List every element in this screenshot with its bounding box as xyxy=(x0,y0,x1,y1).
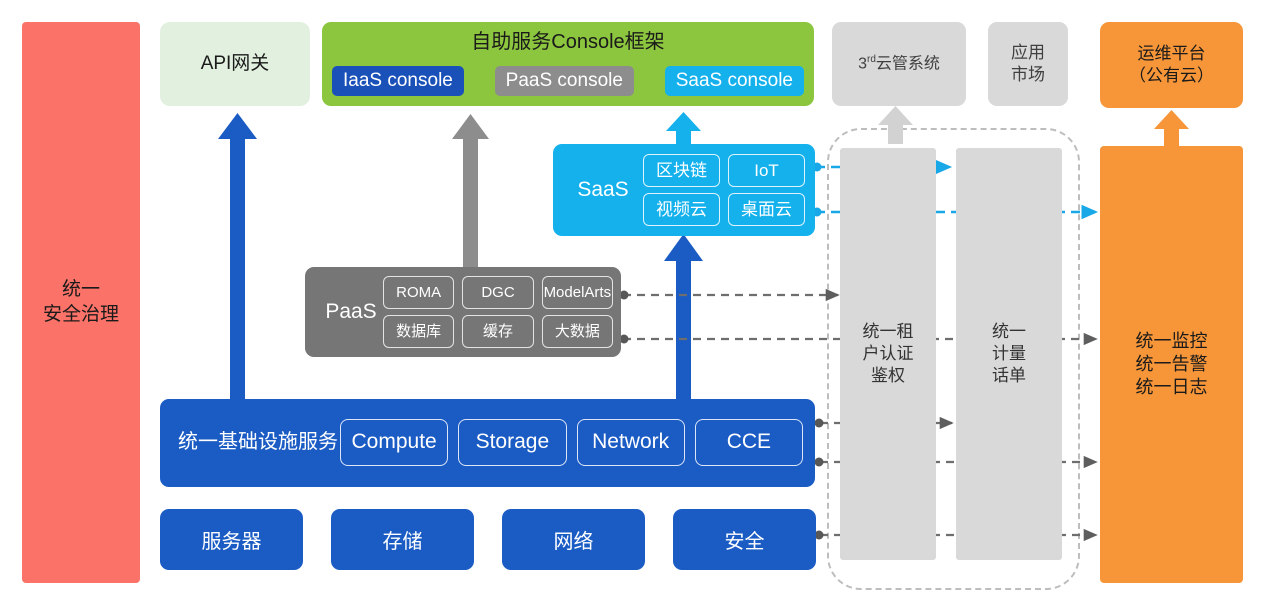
infrastructure-services-panel[interactable]: 统一基础设施服务 Compute Storage Network CCE xyxy=(160,399,815,487)
metering-billing-column[interactable]: 统一 计量 话单 xyxy=(956,148,1062,560)
paas-service-grid: ROMA DGC ModelArts 数据库 缓存 大数据 xyxy=(383,276,613,348)
console-framework-panel[interactable]: 自助服务Console框架 IaaS console PaaS console … xyxy=(322,22,814,106)
resource-box-storage[interactable]: 存储 xyxy=(331,509,474,570)
architecture-diagram: 统一 安全治理 API网关 自助服务Console框架 IaaS console… xyxy=(0,0,1265,605)
third-party-cloud-label: 3rd云管系统 xyxy=(858,54,940,75)
resource-box-security[interactable]: 安全 xyxy=(673,509,816,570)
infrastructure-item[interactable]: Storage xyxy=(458,419,566,466)
infrastructure-item-group: Compute Storage Network CCE xyxy=(340,420,803,465)
infrastructure-item[interactable]: Network xyxy=(577,419,685,466)
paas-service-item[interactable]: 大数据 xyxy=(542,315,613,348)
saas-service-item[interactable]: 区块链 xyxy=(643,154,720,187)
dot-infra-out-1 xyxy=(815,419,824,428)
saas-service-item[interactable]: IoT xyxy=(728,154,805,187)
saas-service-item[interactable]: 视频云 xyxy=(643,193,720,226)
infrastructure-services-label: 统一基础设施服务 xyxy=(178,399,338,487)
third-party-cloud-rest: 云管系统 xyxy=(876,55,940,72)
third-party-cloud-box[interactable]: 3rd云管系统 xyxy=(832,22,966,106)
console-framework-title: 自助服务Console框架 xyxy=(322,30,814,56)
resource-box-server[interactable]: 服务器 xyxy=(160,509,303,570)
arrow-into-ops-platform xyxy=(1154,110,1189,148)
third-party-cloud-superscript: rd xyxy=(867,54,876,65)
arrow-paas-to-console xyxy=(452,114,489,267)
third-party-cloud-prefix: 3 xyxy=(858,55,867,72)
console-pill-group: IaaS console PaaS console SaaS console xyxy=(332,66,804,96)
tenant-auth-column[interactable]: 统一租 户认证 鉴权 xyxy=(840,148,936,560)
console-paas[interactable]: PaaS console xyxy=(495,66,634,96)
saas-label: SaaS xyxy=(567,144,639,236)
console-iaas[interactable]: IaaS console xyxy=(332,66,464,96)
paas-service-item[interactable]: 缓存 xyxy=(462,315,533,348)
infrastructure-item[interactable]: Compute xyxy=(340,419,448,466)
ops-platform-box[interactable]: 运维平台 （公有云） xyxy=(1100,22,1243,108)
paas-label: PaaS xyxy=(315,267,387,357)
app-market-box[interactable]: 应用 市场 xyxy=(988,22,1068,106)
paas-service-item[interactable]: DGC xyxy=(462,276,533,309)
paas-service-item[interactable]: 数据库 xyxy=(383,315,454,348)
arrow-infra-to-api-gateway xyxy=(218,113,257,399)
ops-monitoring-panel[interactable]: 统一监控 统一告警 统一日志 xyxy=(1100,146,1243,583)
console-saas[interactable]: SaaS console xyxy=(665,66,804,96)
infrastructure-item[interactable]: CCE xyxy=(695,419,803,466)
resource-box-network[interactable]: 网络 xyxy=(502,509,645,570)
api-gateway-box[interactable]: API网关 xyxy=(160,22,310,106)
paas-service-item[interactable]: ROMA xyxy=(383,276,454,309)
security-governance-panel[interactable]: 统一 安全治理 xyxy=(22,22,140,583)
dot-infra-out-2 xyxy=(815,458,824,467)
arrow-infra-to-saas xyxy=(664,234,703,399)
saas-service-grid: 区块链 IoT 视频云 桌面云 xyxy=(643,154,805,226)
paas-service-item[interactable]: ModelArts xyxy=(542,276,613,309)
arrow-saas-to-console xyxy=(666,112,701,146)
saas-panel[interactable]: SaaS 区块链 IoT 视频云 桌面云 xyxy=(553,144,815,236)
saas-service-item[interactable]: 桌面云 xyxy=(728,193,805,226)
paas-panel[interactable]: PaaS ROMA DGC ModelArts 数据库 缓存 大数据 xyxy=(305,267,621,357)
